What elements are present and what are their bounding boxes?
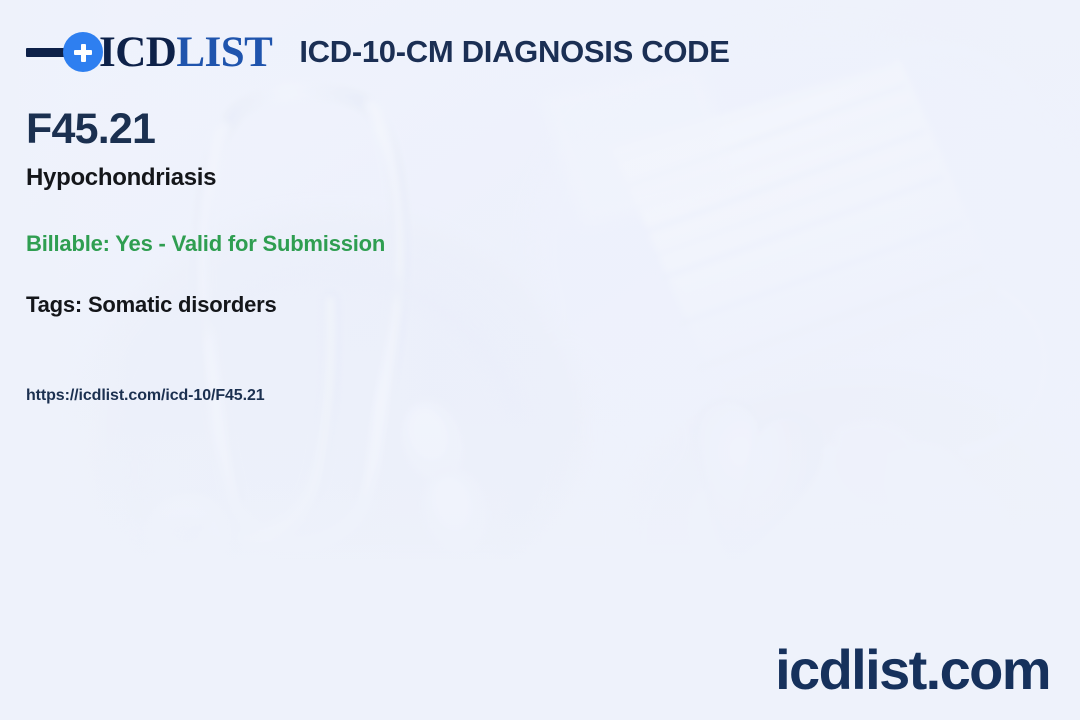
page-title: ICD-10-CM DIAGNOSIS CODE <box>299 34 729 70</box>
code-details: F45.21 Hypochondriasis Billable: Yes - V… <box>26 108 766 404</box>
code-tags: Tags: Somatic disorders <box>26 293 766 317</box>
plus-circle-icon <box>63 32 103 72</box>
header: ICDLIST ICD-10-CM DIAGNOSIS CODE <box>26 26 730 78</box>
icd-code-card: ICDLIST ICD-10-CM DIAGNOSIS CODE F45.21 … <box>0 0 1080 720</box>
logo-text-icd: ICD <box>99 29 176 76</box>
code-description: Hypochondriasis <box>26 165 766 191</box>
billable-status: Billable: Yes - Valid for Submission <box>26 232 766 256</box>
icdlist-logo[interactable]: ICDLIST <box>26 26 272 78</box>
icd-code: F45.21 <box>26 108 766 151</box>
logo-text-list: LIST <box>176 29 272 76</box>
code-url[interactable]: https://icdlist.com/icd-10/F45.21 <box>26 387 766 405</box>
site-watermark: icdlist.com <box>775 642 1050 698</box>
